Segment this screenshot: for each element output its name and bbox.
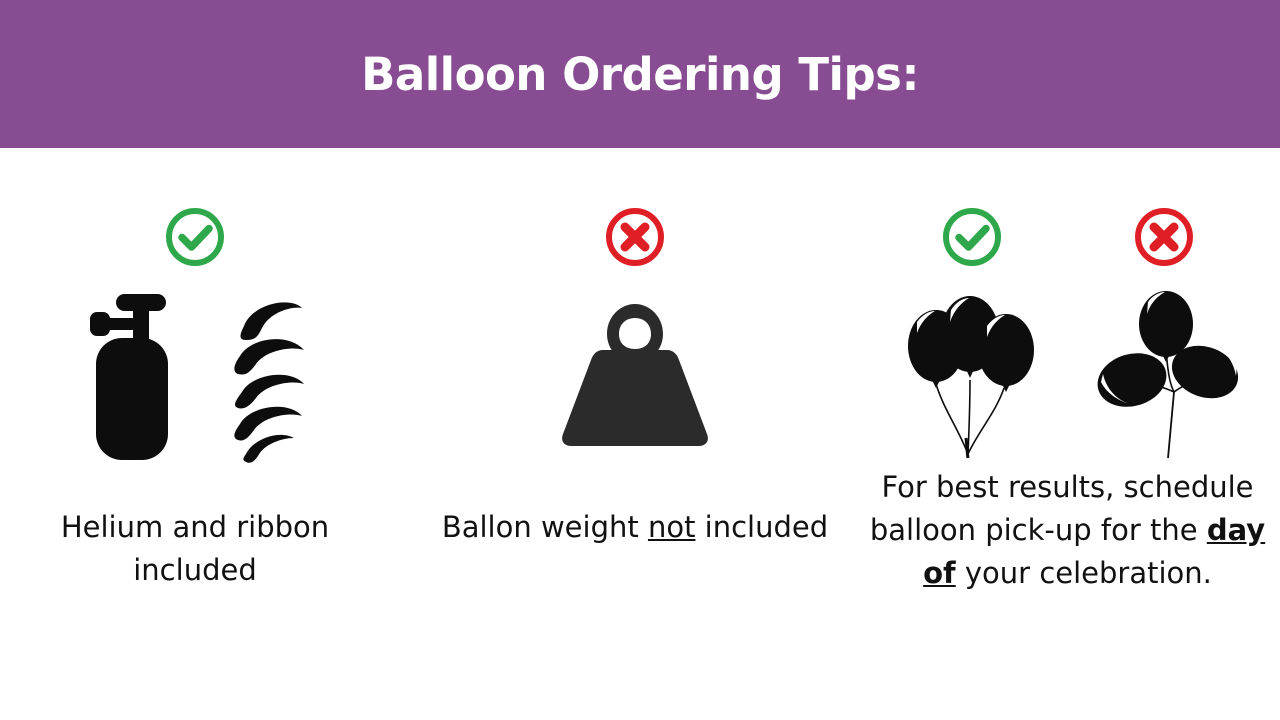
mark-row xyxy=(425,206,845,268)
tip-column-pickup-timing: For best results, schedule balloon pick-… xyxy=(855,148,1280,720)
caption-segment-1: Ballon weight xyxy=(442,510,648,544)
green-check-icon xyxy=(941,206,1003,268)
caption-balloon-weight: Ballon weight not included xyxy=(425,506,845,549)
helium-tank-icon xyxy=(78,288,186,464)
page-title: Balloon Ordering Tips: xyxy=(361,52,919,97)
mark-row xyxy=(855,206,1280,268)
caption-segment-1: For best results, schedule balloon pick-… xyxy=(870,470,1254,547)
caption-text: Helium and ribbon included xyxy=(61,510,329,587)
red-cross-icon xyxy=(1133,206,1195,268)
caption-segment-3: included xyxy=(695,510,828,544)
art-row xyxy=(425,288,845,456)
caption-segment-not: not xyxy=(648,510,696,544)
caption-helium-ribbon: Helium and ribbon included xyxy=(0,506,390,592)
caption-segment-3: your celebration. xyxy=(956,556,1212,590)
weight-icon xyxy=(551,288,719,456)
caption-pickup-timing: For best results, schedule balloon pick-… xyxy=(855,466,1280,595)
tip-column-balloon-weight: Ballon weight not included xyxy=(425,148,845,720)
art-row xyxy=(855,288,1280,460)
mark-row xyxy=(0,206,390,268)
deflated-balloon-bunch-icon xyxy=(1090,288,1240,460)
inflated-balloon-bunch-icon xyxy=(896,288,1044,460)
tips-columns: Helium and ribbon included xyxy=(0,148,1280,720)
red-cross-icon xyxy=(604,206,666,268)
slide-root: Balloon Ordering Tips: xyxy=(0,0,1280,720)
header-banner: Balloon Ordering Tips: xyxy=(0,0,1280,148)
curly-ribbon-icon xyxy=(232,288,312,464)
green-check-icon xyxy=(164,206,226,268)
tip-column-helium-ribbon: Helium and ribbon included xyxy=(0,148,390,720)
art-row xyxy=(0,288,390,464)
